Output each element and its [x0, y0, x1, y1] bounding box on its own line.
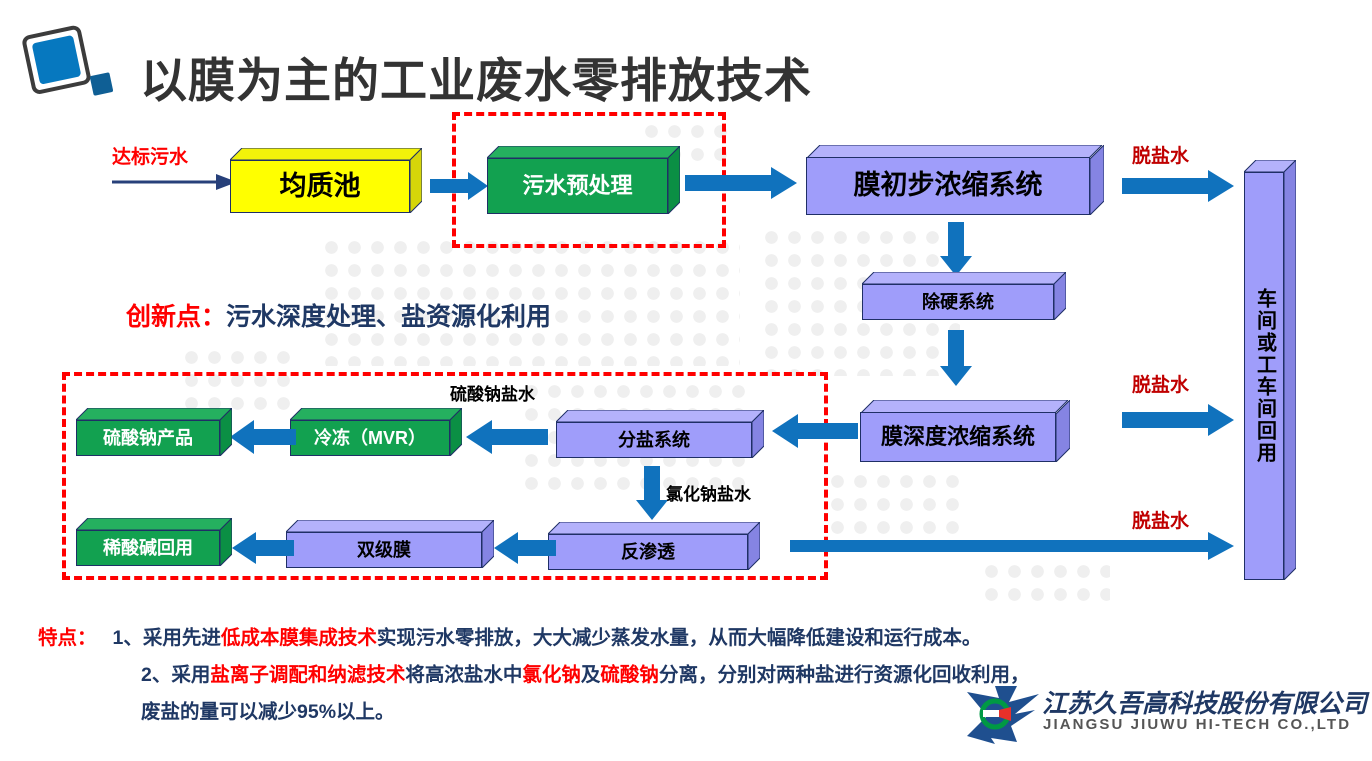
feature-2-mid-2: 及 [581, 664, 601, 686]
box-membrane-deep-concentration-label: 膜深度浓缩系统 [860, 412, 1056, 462]
box-top-face [860, 400, 1068, 412]
box-double-stage-membrane-label: 双级膜 [286, 532, 482, 568]
box-membrane-primary-concentration[interactable]: 膜初步浓缩系统 [806, 145, 1102, 215]
box-dilute-acid-alkali-reuse[interactable]: 稀酸碱回用 [76, 518, 232, 566]
company-logo: 江苏久吾高科技股份有限公司 JIANGSU JIUWU HI-TECH CO.,… [965, 686, 1365, 748]
page-title: 以膜为主的工业废水零排放技术 [140, 42, 812, 111]
feature-2-highlight-2: 氯化钠 [522, 664, 581, 686]
feature-1-highlight: 低成本膜集成技术 [221, 627, 377, 649]
box-homogenize-tank[interactable]: 均质池 [230, 148, 422, 213]
box-top-face [290, 408, 462, 420]
arrow-ro-to-double-membrane [494, 532, 556, 569]
arrow-inlet [112, 172, 237, 197]
box-top-face [487, 146, 680, 158]
box-side-face [748, 522, 760, 570]
box-side-face [1054, 272, 1066, 320]
arrow-softening-to-deep [940, 330, 972, 391]
company-name-en: JIANGSU JIUWU HI-TECH CO.,LTD [1043, 716, 1351, 733]
box-top-face [556, 410, 764, 422]
box-top-face [76, 408, 232, 420]
box-side-face [668, 146, 680, 214]
arrow-primary-to-workshop [1122, 170, 1234, 207]
box-side-face [220, 408, 232, 456]
box-softening-system-label: 除硬系统 [862, 284, 1054, 320]
box-workshop-reuse-label: 车间或工车间回用 [1244, 172, 1284, 580]
box-salt-splitting-system-label: 分盐系统 [556, 422, 752, 458]
box-side-face [482, 520, 494, 568]
box-reverse-osmosis[interactable]: 反渗透 [548, 522, 760, 570]
box-sodium-sulfate-product-label: 硫酸钠产品 [76, 420, 220, 456]
box-wastewater-pretreatment[interactable]: 污水预处理 [487, 146, 680, 214]
box-workshop-reuse[interactable]: 车间或工车间回用 [1244, 160, 1296, 580]
feature-2-tail: 分离，分别对两种盐进行资源化回收利用， [659, 664, 1030, 686]
arrow-double-membrane-to-reuse [232, 532, 294, 569]
box-softening-system[interactable]: 除硬系统 [862, 272, 1066, 320]
box-side-face [450, 408, 462, 456]
label-inlet-wastewater: 达标污水 [112, 142, 188, 169]
company-name-cn: 江苏久吾高科技股份有限公司 [1042, 684, 1367, 720]
innovation-point-value: 污水深度处理、盐资源化利用 [226, 303, 551, 331]
box-top-face [76, 518, 232, 530]
box-side-face [220, 518, 232, 566]
feature-2-highlight-3: 硫酸钠 [600, 664, 659, 686]
feature-1-tail: 实现污水零排放，大大减少蒸发水量，从而大幅降低建设和运行成本。 [377, 627, 982, 649]
feature-2-line2: 废盐的量可以减少95%以上。 [141, 701, 395, 723]
box-dilute-acid-alkali-reuse-label: 稀酸碱回用 [76, 530, 220, 566]
arrow-freeze-to-sulfate-product [230, 420, 296, 459]
box-side-face [1090, 145, 1102, 215]
label-sodium-sulfate-brine: 硫酸钠盐水 [450, 380, 535, 405]
features-heading: 特点： [38, 627, 97, 649]
box-sodium-sulfate-product[interactable]: 硫酸钠产品 [76, 408, 232, 456]
box-side-face [1056, 400, 1068, 462]
innovation-point-key: 创新点： [126, 303, 226, 331]
slide-canvas: 以膜为主的工业废水零排放技术 达标污水 均质池 [0, 0, 1372, 761]
arrow-bottom-to-workshop [790, 532, 1234, 565]
jiuwu-diamond-logo-icon [18, 18, 114, 114]
box-freeze-mvr[interactable]: 冷冻（MVR） [290, 408, 462, 456]
label-inlet-wastewater-text: 达标污水 [112, 147, 188, 168]
label-desalted-water-bottom: 脱盐水 [1132, 506, 1189, 533]
background-dot-map [980, 560, 1110, 610]
box-double-stage-membrane[interactable]: 双级膜 [286, 520, 494, 568]
feature-2-highlight-1: 盐离子调配和纳滤技术 [210, 664, 405, 686]
box-salt-splitting-system[interactable]: 分盐系统 [556, 410, 764, 458]
feature-1-num: 1、采用先进 [113, 627, 221, 649]
box-wastewater-pretreatment-label: 污水预处理 [487, 158, 668, 214]
innovation-point-line: 创新点：污水深度处理、盐资源化利用 [126, 297, 551, 333]
arrow-deep-to-workshop [1122, 404, 1234, 441]
feature-2-num: 2、采用 [141, 664, 210, 686]
box-side-face [1284, 160, 1296, 580]
box-top-face [806, 145, 1102, 157]
box-top-face [286, 520, 494, 532]
company-mark-icon [965, 686, 1041, 744]
box-membrane-primary-concentration-label: 膜初步浓缩系统 [806, 157, 1090, 215]
box-reverse-osmosis-label: 反渗透 [548, 534, 748, 570]
label-desalted-water-top: 脱盐水 [1132, 141, 1189, 168]
box-homogenize-tank-label: 均质池 [230, 160, 410, 213]
box-top-face [548, 522, 760, 534]
arrow-salt-split-to-ro [636, 466, 668, 525]
box-side-face [410, 148, 422, 213]
arrow-deep-to-salt-split [772, 414, 858, 453]
arrow-pretreat-to-primary [685, 167, 797, 204]
box-membrane-deep-concentration[interactable]: 膜深度浓缩系统 [860, 400, 1068, 462]
label-sodium-chloride-brine: 氯化钠盐水 [666, 480, 751, 505]
arrow-salt-split-to-freeze [466, 420, 548, 459]
feature-2-mid-1: 将高浓盐水中 [405, 664, 522, 686]
label-desalted-water-mid: 脱盐水 [1132, 370, 1189, 397]
arrow-homogenize-to-pretreat [430, 172, 488, 205]
box-freeze-mvr-label: 冷冻（MVR） [290, 420, 450, 456]
box-side-face [752, 410, 764, 458]
box-top-face [230, 148, 422, 160]
box-top-face [862, 272, 1066, 284]
feature-item-1: 特点：1、采用先进低成本膜集成技术实现污水零排放，大大减少蒸发水量，从而大幅降低… [38, 620, 1338, 657]
